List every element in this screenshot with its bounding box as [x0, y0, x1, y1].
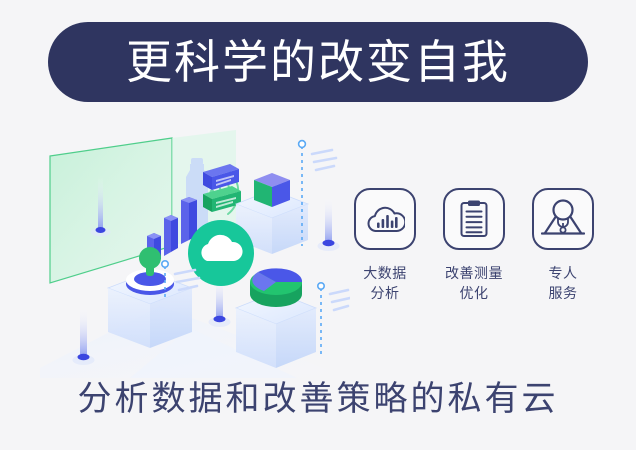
footer-tagline: 分析数据和改善策略的私有云 [0, 382, 636, 416]
person-service-icon-box [532, 188, 594, 250]
isometric-pie-chart [250, 268, 302, 307]
cloud-bar-chart-icon [365, 202, 405, 236]
title-banner-pill: 更科学的改变自我 [48, 22, 588, 102]
feature-item-dedicated-service[interactable]: 专人 服务 [526, 188, 600, 304]
page-title: 更科学的改变自我 [126, 39, 510, 85]
banner-canvas: 更科学的改变自我 [0, 0, 636, 450]
gradient-pin [318, 196, 340, 251]
feature-label: 大数据 分析 [363, 263, 407, 304]
feature-list: 大数据 分析 改善测量 优化 [348, 188, 600, 333]
feature-item-measurement-optimization[interactable]: 改善测量 优化 [437, 188, 511, 304]
cloud-bar-chart-icon-box [354, 188, 416, 250]
person-service-icon [541, 199, 585, 239]
feature-item-big-data-analysis[interactable]: 大数据 分析 [348, 188, 422, 304]
clipboard-lines-icon-box [443, 188, 505, 250]
hero-illustration [40, 128, 350, 378]
clipboard-lines-icon [457, 199, 491, 239]
isometric-cube [254, 173, 290, 207]
feature-label: 改善测量 优化 [445, 263, 503, 304]
feature-label: 专人 服务 [549, 263, 578, 304]
